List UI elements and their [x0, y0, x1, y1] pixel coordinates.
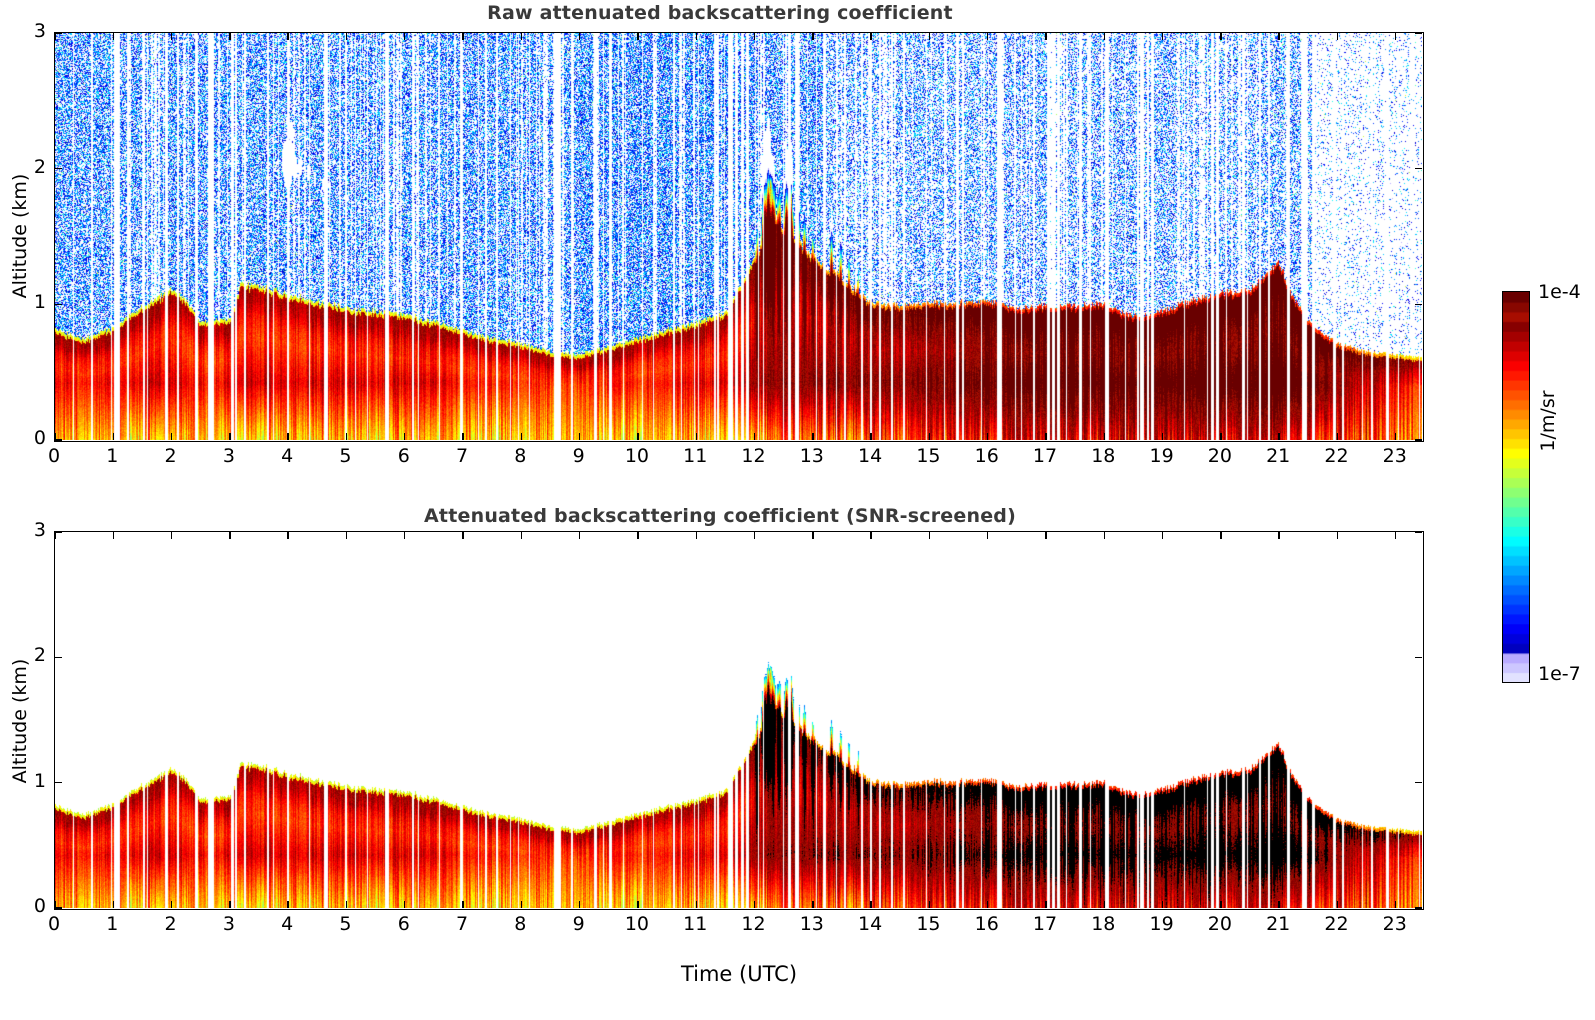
x-tick-top	[754, 33, 755, 40]
x-tick	[987, 901, 988, 908]
x-tick	[1278, 901, 1279, 908]
panel-title-screened: Attenuated backscattering coefficient (S…	[0, 505, 1440, 527]
x-tick-label: 21	[1258, 445, 1298, 467]
x-tick-top	[462, 33, 463, 40]
x-tick	[929, 433, 930, 440]
y-tick-label: 2	[12, 156, 46, 178]
x-tick-label: 4	[267, 445, 307, 467]
x-tick	[1045, 901, 1046, 908]
x-tick	[812, 901, 813, 908]
x-tick-top	[1337, 532, 1338, 539]
x-tick-label: 19	[1142, 913, 1182, 935]
y-tick-right	[1415, 907, 1422, 908]
x-tick-label: 10	[617, 445, 657, 467]
x-tick-label: 10	[617, 913, 657, 935]
y-tick-label: 3	[12, 20, 46, 42]
x-tick-top	[404, 33, 405, 40]
x-tick-label: 14	[850, 913, 890, 935]
y-tick-label: 2	[12, 644, 46, 666]
x-tick-label: 1	[92, 445, 132, 467]
x-tick-label: 11	[675, 913, 715, 935]
x-tick-top	[929, 532, 930, 539]
x-tick-label: 13	[792, 913, 832, 935]
y-tick	[55, 782, 62, 783]
x-tick-label: 16	[967, 445, 1007, 467]
x-tick-top	[637, 33, 638, 40]
x-tick	[1278, 433, 1279, 440]
x-axis-label: Time (UTC)	[0, 962, 1478, 986]
x-tick	[171, 901, 172, 908]
x-tick-label: 18	[1083, 445, 1123, 467]
x-tick-label: 11	[675, 445, 715, 467]
y-tick-right	[1415, 439, 1422, 440]
x-tick-top	[1045, 532, 1046, 539]
x-tick-label: 15	[908, 913, 948, 935]
x-tick	[404, 433, 405, 440]
colorbar-unit-label: 1/m/sr	[1537, 341, 1559, 501]
x-tick	[229, 901, 230, 908]
x-tick-label: 3	[209, 445, 249, 467]
x-tick	[812, 433, 813, 440]
x-tick-label: 21	[1258, 913, 1298, 935]
x-tick	[1395, 901, 1396, 908]
colorbar	[1502, 291, 1530, 683]
y-tick-right	[1415, 168, 1422, 169]
x-tick-label: 1	[92, 913, 132, 935]
x-tick	[113, 901, 114, 908]
x-tick-label: 12	[734, 445, 774, 467]
x-tick-label: 2	[151, 445, 191, 467]
y-tick-label: 1	[12, 291, 46, 313]
x-tick	[462, 901, 463, 908]
x-tick-top	[1395, 33, 1396, 40]
x-tick	[754, 901, 755, 908]
y-tick-right	[1415, 304, 1422, 305]
x-tick-top	[812, 532, 813, 539]
y-tick-right	[1415, 531, 1422, 532]
x-tick	[462, 433, 463, 440]
x-tick-label: 18	[1083, 913, 1123, 935]
x-tick	[346, 433, 347, 440]
x-tick-label: 17	[1025, 913, 1065, 935]
x-tick-label: 8	[500, 445, 540, 467]
x-tick-top	[870, 33, 871, 40]
x-tick	[637, 433, 638, 440]
x-tick-label: 17	[1025, 445, 1065, 467]
colorbar-min-label: 1e-7	[1538, 663, 1581, 685]
y-tick-right	[1415, 32, 1422, 33]
x-tick-top	[521, 532, 522, 539]
x-tick	[521, 433, 522, 440]
x-tick-label: 9	[559, 445, 599, 467]
x-tick-top	[287, 532, 288, 539]
x-tick-top	[1278, 532, 1279, 539]
x-tick-label: 6	[384, 913, 424, 935]
x-tick-top	[987, 33, 988, 40]
x-tick-top	[287, 33, 288, 40]
x-tick-label: 22	[1316, 913, 1356, 935]
y-tick-label: 1	[12, 770, 46, 792]
y-tick-right	[1415, 657, 1422, 658]
raw-heatmap-canvas	[55, 33, 1422, 440]
x-tick	[1162, 433, 1163, 440]
x-tick	[1104, 433, 1105, 440]
y-tick	[55, 531, 62, 532]
x-tick	[1104, 901, 1105, 908]
x-tick	[1045, 433, 1046, 440]
panel-title-raw: Raw attenuated backscattering coefficien…	[0, 2, 1440, 24]
x-tick-top	[113, 33, 114, 40]
x-tick-label: 6	[384, 445, 424, 467]
x-tick	[1337, 433, 1338, 440]
x-tick	[521, 901, 522, 908]
x-tick-label: 16	[967, 913, 1007, 935]
x-tick-label: 7	[442, 913, 482, 935]
colorbar-max-label: 1e-4	[1538, 281, 1581, 303]
y-tick-right	[1415, 782, 1422, 783]
y-tick	[55, 657, 62, 658]
x-tick	[113, 433, 114, 440]
x-tick-top	[812, 33, 813, 40]
x-tick-label: 3	[209, 913, 249, 935]
x-tick-top	[1045, 33, 1046, 40]
x-tick-top	[1337, 33, 1338, 40]
x-tick-top	[346, 33, 347, 40]
x-tick-top	[346, 532, 347, 539]
x-tick	[696, 901, 697, 908]
x-tick	[987, 433, 988, 440]
x-tick-top	[870, 532, 871, 539]
x-tick	[171, 433, 172, 440]
x-tick-label: 5	[325, 913, 365, 935]
x-tick-label: 9	[559, 913, 599, 935]
x-tick-label: 20	[1200, 445, 1240, 467]
x-tick	[229, 433, 230, 440]
x-tick-top	[579, 33, 580, 40]
y-tick-label: 0	[12, 895, 46, 917]
x-tick	[1220, 901, 1221, 908]
x-tick-top	[987, 532, 988, 539]
x-tick-top	[171, 532, 172, 539]
screened-heatmap-canvas	[55, 532, 1422, 908]
y-tick-label: 0	[12, 427, 46, 449]
x-tick-top	[54, 33, 55, 40]
screened-backscatter-heatmap	[54, 531, 1424, 910]
x-tick	[1220, 433, 1221, 440]
raw-backscatter-heatmap	[54, 32, 1424, 442]
x-tick	[1337, 901, 1338, 908]
x-tick	[404, 901, 405, 908]
x-tick-label: 23	[1375, 445, 1415, 467]
x-tick-top	[929, 33, 930, 40]
x-tick-top	[1162, 532, 1163, 539]
x-tick-top	[1220, 33, 1221, 40]
x-tick	[287, 433, 288, 440]
x-tick-top	[1395, 532, 1396, 539]
x-tick-top	[1104, 532, 1105, 539]
x-tick-top	[171, 33, 172, 40]
x-tick-top	[754, 532, 755, 539]
x-tick	[346, 901, 347, 908]
x-tick	[929, 901, 930, 908]
y-tick	[55, 32, 62, 33]
x-tick	[579, 433, 580, 440]
y-tick	[55, 439, 62, 440]
x-tick	[637, 901, 638, 908]
x-tick-top	[54, 532, 55, 539]
x-tick	[696, 433, 697, 440]
x-tick-label: 14	[850, 445, 890, 467]
x-tick	[754, 433, 755, 440]
x-tick-top	[404, 532, 405, 539]
y-tick	[55, 304, 62, 305]
x-tick-top	[579, 532, 580, 539]
x-tick	[287, 901, 288, 908]
x-tick-label: 23	[1375, 913, 1415, 935]
x-tick-label: 15	[908, 445, 948, 467]
x-tick	[1162, 901, 1163, 908]
x-tick-label: 19	[1142, 445, 1182, 467]
x-tick-label: 2	[151, 913, 191, 935]
x-tick-top	[1104, 33, 1105, 40]
x-tick	[870, 901, 871, 908]
x-tick-label: 12	[734, 913, 774, 935]
x-tick-top	[696, 532, 697, 539]
y-tick	[55, 168, 62, 169]
x-tick-label: 20	[1200, 913, 1240, 935]
x-tick	[579, 901, 580, 908]
x-tick-top	[113, 532, 114, 539]
x-tick-top	[1220, 532, 1221, 539]
x-tick-label: 13	[792, 445, 832, 467]
x-tick-label: 8	[500, 913, 540, 935]
x-tick-label: 4	[267, 913, 307, 935]
x-tick-top	[521, 33, 522, 40]
x-tick-label: 22	[1316, 445, 1356, 467]
x-tick-top	[229, 532, 230, 539]
colorbar-gradient	[1502, 291, 1530, 683]
x-tick-top	[462, 532, 463, 539]
x-tick	[870, 433, 871, 440]
x-tick-top	[1278, 33, 1279, 40]
x-tick	[1395, 433, 1396, 440]
x-tick-label: 7	[442, 445, 482, 467]
x-tick-top	[696, 33, 697, 40]
x-tick-label: 5	[325, 445, 365, 467]
x-tick-top	[1162, 33, 1163, 40]
y-tick-label: 3	[12, 519, 46, 541]
x-tick-top	[229, 33, 230, 40]
x-tick-top	[637, 532, 638, 539]
y-tick	[55, 907, 62, 908]
